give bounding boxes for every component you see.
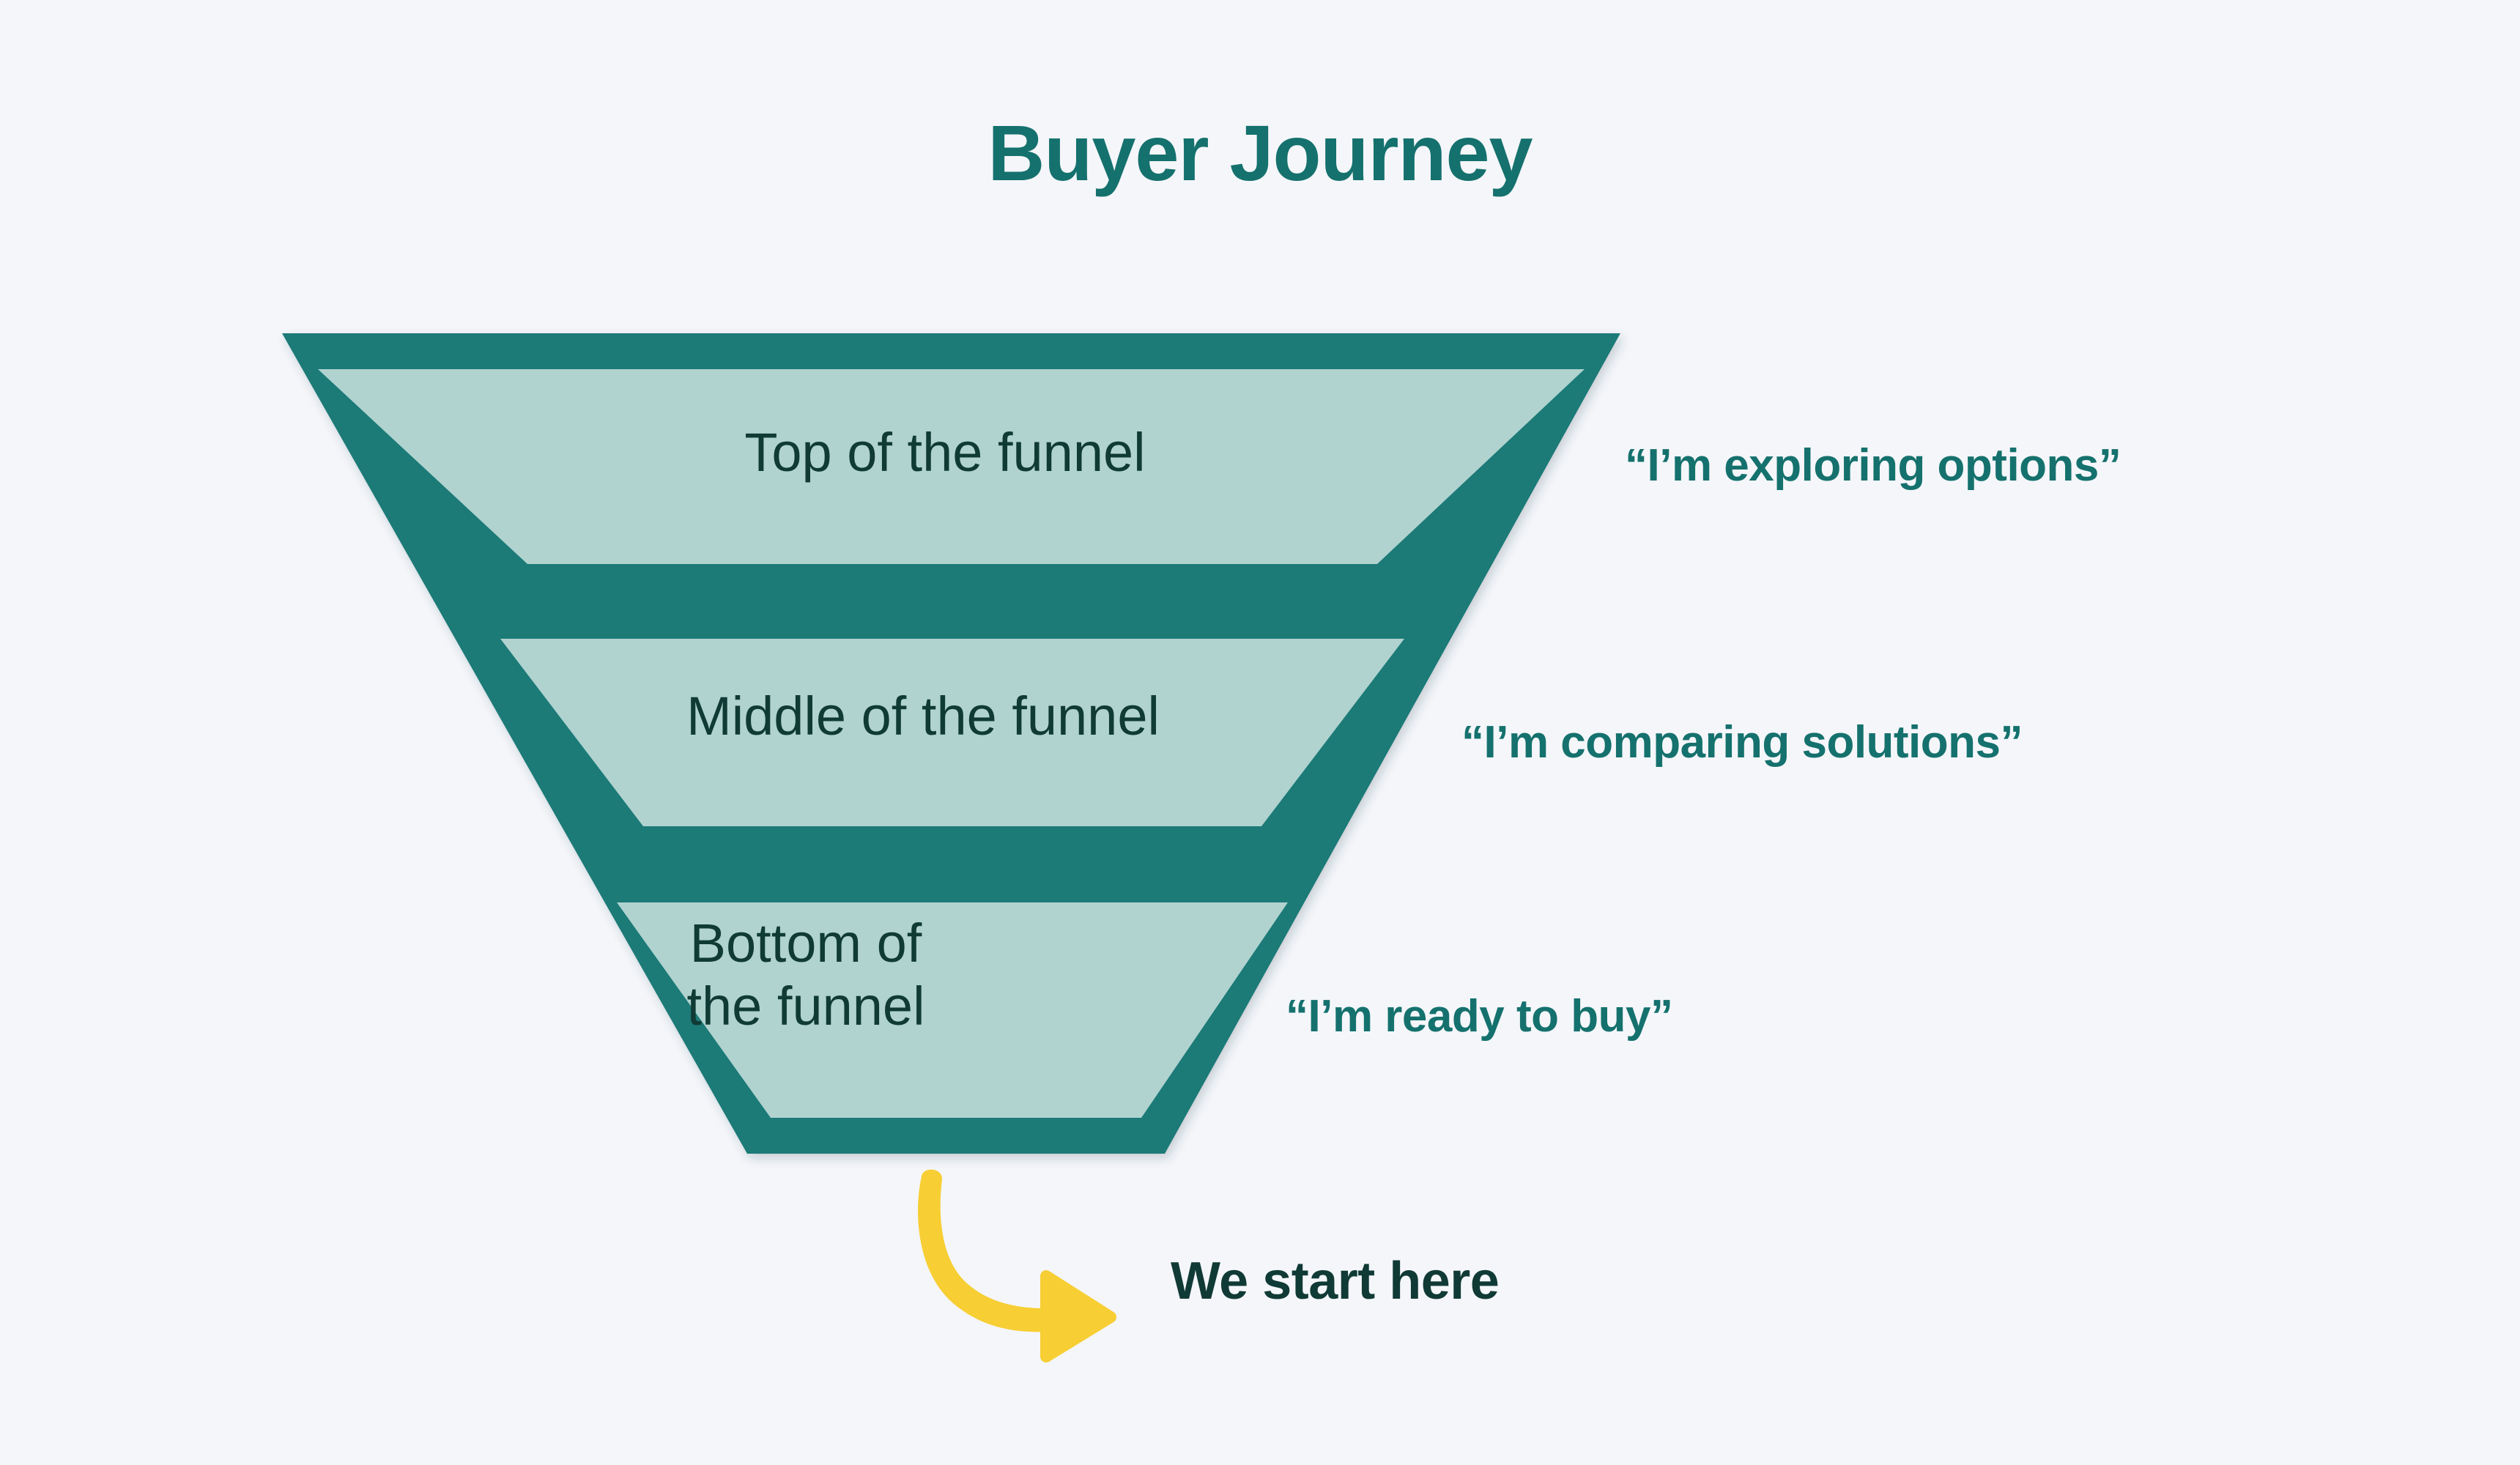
funnel-stage-quote-top: “I’m exploring options” bbox=[1625, 439, 2121, 492]
funnel-stage-label-bottom: Bottom of the funnel bbox=[476, 912, 1135, 1038]
funnel-stage-label-top: Top of the funnel bbox=[462, 421, 1428, 484]
callout-label-we-start-here: We start here bbox=[1171, 1251, 1499, 1311]
arrow-shaft bbox=[918, 1170, 1052, 1332]
funnel-stage-label-middle: Middle of the funnel bbox=[440, 685, 1407, 748]
funnel-stage-quote-bottom: “I’m ready to buy” bbox=[1286, 990, 1672, 1042]
funnel-stage-quote-middle: “I’m comparing solutions” bbox=[1461, 716, 2023, 768]
diagram-canvas: Buyer Journey Top of the funnel Middle o… bbox=[0, 0, 2520, 1465]
arrow-head bbox=[1046, 1276, 1111, 1357]
curved-arrow-right-icon bbox=[908, 1165, 1157, 1362]
